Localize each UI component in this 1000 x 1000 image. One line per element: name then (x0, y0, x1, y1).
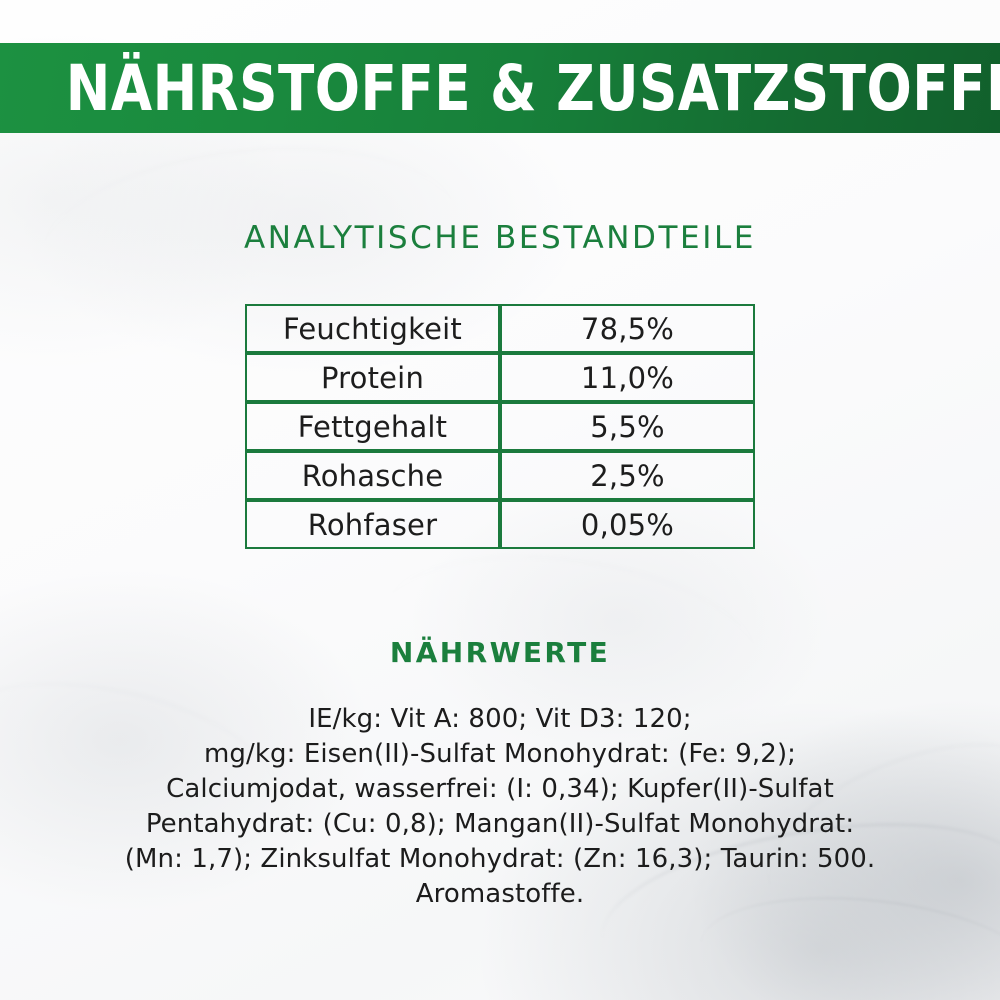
nutrients-line: Aromastoffe. (40, 877, 960, 912)
table-cell-label: Protein (245, 353, 500, 402)
table-cell-label: Rohfaser (245, 500, 500, 549)
table-row: Protein 11,0% (245, 353, 755, 402)
table-row: Rohasche 2,5% (245, 451, 755, 500)
nutrients-body-text: IE/kg: Vit A: 800; Vit D3: 120; mg/kg: E… (40, 702, 960, 912)
table-cell-value: 11,0% (500, 353, 755, 402)
nutrients-line: Calciumjodat, wasserfrei: (I: 0,34); Kup… (40, 772, 960, 807)
nutrients-line: Pentahydrat: (Cu: 0,8); Mangan(II)-Sulfa… (40, 807, 960, 842)
analytical-constituents-table: Feuchtigkeit 78,5% Protein 11,0% Fettgeh… (245, 304, 755, 549)
table-cell-label: Rohasche (245, 451, 500, 500)
nutrients-line: (Mn: 1,7); Zinksulfat Monohydrat: (Zn: 1… (40, 842, 960, 877)
nutrients-line: IE/kg: Vit A: 800; Vit D3: 120; (40, 702, 960, 737)
table-cell-value: 5,5% (500, 402, 755, 451)
table-row: Fettgehalt 5,5% (245, 402, 755, 451)
nutrients-line: mg/kg: Eisen(II)-Sulfat Monohydrat: (Fe:… (40, 737, 960, 772)
table-cell-label: Feuchtigkeit (245, 304, 500, 353)
header-banner: NÄHRSTOFFE & ZUSATZSTOFFE (0, 43, 1000, 133)
table-cell-value: 2,5% (500, 451, 755, 500)
table-row: Feuchtigkeit 78,5% (245, 304, 755, 353)
banner-title: NÄHRSTOFFE & ZUSATZSTOFFE (0, 57, 1000, 120)
table-cell-value: 78,5% (500, 304, 755, 353)
nutrition-label-panel: NÄHRSTOFFE & ZUSATZSTOFFE ANALYTISCHE BE… (0, 0, 1000, 1000)
nutrients-section-heading: NÄHRWERTE (0, 636, 1000, 669)
table-cell-value: 0,05% (500, 500, 755, 549)
table-row: Rohfaser 0,05% (245, 500, 755, 549)
analytical-section-heading: ANALYTISCHE BESTANDTEILE (0, 220, 1000, 256)
table-cell-label: Fettgehalt (245, 402, 500, 451)
